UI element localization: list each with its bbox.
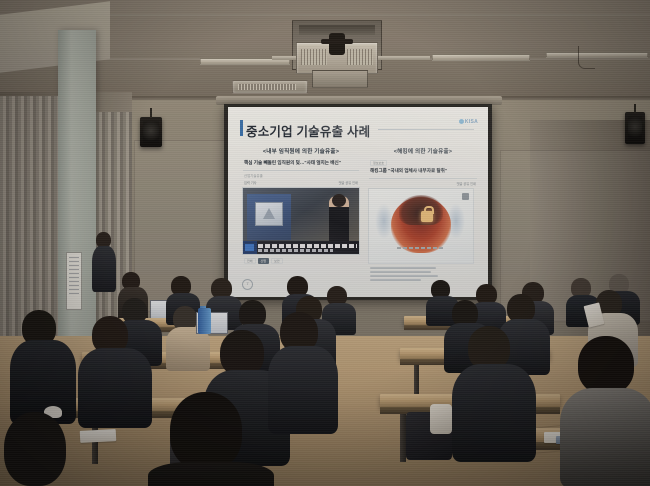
chyron-headline-text — [258, 244, 357, 248]
floor-paper-bag — [430, 404, 452, 434]
projector-vent-right — [347, 49, 373, 65]
left-article-actions: 댓글 공유 인쇄 — [339, 180, 358, 185]
right-article-actions: 댓글 공유 인쇄 — [457, 181, 476, 186]
right-article-body — [368, 267, 478, 281]
left-tag-0: 전체 — [244, 258, 256, 264]
right-kicker-tag: 정보보호 — [370, 160, 387, 166]
body-line-1 — [370, 271, 431, 273]
right-section-heading: <해킹에 의한 기술유출> — [368, 147, 478, 155]
projector-lens-housing — [312, 70, 368, 88]
attendee-n2-torso — [78, 348, 152, 428]
speaker-bracket-left — [150, 108, 152, 118]
left-tag-row: 전체 산업 보안 — [242, 258, 360, 264]
news-monitor-graphic — [255, 202, 283, 226]
chyron-subtext — [258, 249, 333, 252]
projector-vent-left — [301, 49, 327, 65]
attendee-n4-torso — [268, 346, 338, 434]
air-vent-grill — [238, 84, 296, 90]
wall-speaker-right — [625, 112, 645, 144]
slide-left-column: <내부 임직원에 의한 기술유출> 핵심 기술 빼돌린 임직원의 덫…"사태 엎… — [242, 147, 360, 266]
attendee-n6-torso — [560, 388, 650, 486]
slide-title-accent-bar — [240, 120, 243, 136]
ceiling-cable — [578, 46, 595, 69]
left-tag-1: 산업 — [258, 258, 270, 264]
air-vent — [232, 80, 308, 94]
slide-title-rule — [378, 129, 474, 130]
attendee-foreground-left-head — [4, 412, 66, 486]
ceiling-light-bar-right — [432, 54, 530, 61]
right-nav-row: 정보보호 — [368, 160, 478, 166]
wall-speaker-left — [140, 117, 162, 147]
image-caption-line — [397, 247, 445, 249]
left-article-headline: 핵심 기술 빼돌린 임직원의 덫…"사태 엎치는 배신" — [242, 160, 360, 167]
padlock-icon — [421, 211, 433, 222]
left-tag-2: 보안 — [271, 258, 283, 264]
blue-tumbler — [198, 308, 211, 334]
desk-paper-near-left — [80, 429, 117, 443]
column-notice-sign — [66, 252, 82, 310]
left-article-rule — [243, 170, 359, 171]
ransomware-illustration — [368, 188, 474, 264]
attendee-foreground-center-torso — [148, 462, 274, 486]
news-chyron — [243, 241, 359, 254]
attendee-n5-torso — [452, 364, 536, 462]
chyron-live-badge — [245, 244, 254, 251]
left-section-heading: <내부 임직원에 의한 기술유출> — [242, 147, 360, 155]
projection-screen: 중소기업 기술유출 사례 KISA <내부 임직원에 의한 기술유출> 핵심 기… — [228, 107, 488, 297]
news-broadcast-image — [242, 187, 360, 255]
slide-right-column: <해킹에 의한 기술유출> 정보보호 해킹그룹 "국내외 업체사 내부자료 탈취… — [368, 147, 478, 283]
lecture-hall-photo: 중소기업 기술유출 사례 KISA <내부 임직원에 의한 기술유출> 핵심 기… — [0, 0, 650, 486]
slide-page-number: 7 — [242, 279, 253, 290]
speaker-bracket-right — [634, 104, 636, 113]
attendee-n6-head — [578, 336, 634, 394]
attendee-n1-torso — [10, 340, 76, 424]
attendee-foreground-center-head — [170, 392, 242, 470]
projector-arm-right — [370, 56, 430, 60]
presenter-torso — [92, 246, 116, 292]
left-article-byline: 입력 기사 — [244, 180, 257, 185]
structural-column — [58, 30, 96, 370]
body-line-2 — [370, 275, 438, 277]
ceiling-light-bar-far-right — [546, 52, 648, 58]
image-corner-badge — [462, 193, 469, 200]
presentation-slide: 중소기업 기술유출 사례 KISA <내부 임직원에 의한 기술유출> 핵심 기… — [228, 107, 488, 297]
projector-mount — [329, 33, 345, 55]
left-article-meta: 입력 기사 댓글 공유 인쇄 — [242, 180, 360, 185]
organization-logo: KISA — [459, 119, 478, 125]
logo-dot-icon — [459, 119, 464, 124]
slide-title: 중소기업 기술유출 사례 — [246, 121, 370, 140]
news-reporter — [329, 196, 349, 246]
right-article-headline: 해킹그룹 "국내외 업체사 내부자료 탈취" — [368, 168, 478, 175]
right-article-meta: 댓글 공유 인쇄 — [368, 181, 478, 186]
right-article-rule — [369, 178, 477, 179]
left-article-kicker: 산업기술유출 — [242, 173, 360, 178]
body-line-3 — [370, 279, 421, 281]
body-line-0 — [370, 267, 436, 269]
